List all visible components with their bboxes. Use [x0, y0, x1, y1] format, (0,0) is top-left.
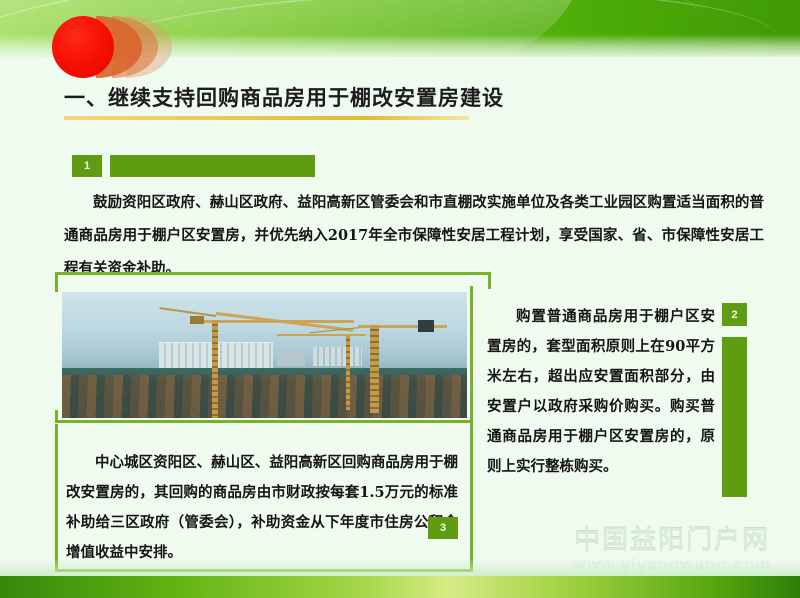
- crane-mast-icon: [370, 325, 379, 413]
- block-badge-1: 1: [72, 155, 102, 177]
- crane-counterweight: [190, 316, 204, 324]
- crane-mast-icon: [212, 320, 218, 418]
- logo: [52, 16, 170, 78]
- paragraph-3: 中心城区资阳区、赫山区、益阳高新区回购商品房用于棚改安置房的，其回购的商品房由市…: [66, 448, 458, 568]
- content-frame-left: [55, 424, 58, 572]
- footer-fade: [0, 558, 800, 576]
- title-underline: [64, 116, 469, 120]
- block-accent-bar-2: [722, 337, 747, 497]
- block-header-bar-1: [110, 155, 315, 177]
- footer-bar: [0, 576, 800, 598]
- photo-buildings: [313, 347, 362, 366]
- crane-counterweight: [418, 320, 434, 332]
- construction-photo: [62, 292, 467, 418]
- content-frame-divider: [470, 286, 473, 572]
- paragraph-1: 鼓励资阳区政府、赫山区政府、益阳高新区管委会和市直棚改实施单位及各类工业园区购置…: [64, 186, 764, 285]
- page-title: 一、继续支持回购商品房用于棚改安置房建设: [64, 82, 764, 112]
- slide: 一、继续支持回购商品房用于棚改安置房建设 1 鼓励资阳区政府、赫山区政府、益阳高…: [0, 0, 800, 598]
- block-badge-2: 2: [722, 303, 747, 326]
- paragraph-2: 购置普通商品房用于棚户区安置房的，套型面积原则上在90平方米左右，超出应安置面积…: [487, 302, 715, 482]
- photo-rubble: [62, 375, 467, 418]
- block-badge-3: 3: [428, 517, 458, 539]
- crane-jib-icon: [277, 334, 366, 336]
- crane-mast-icon: [346, 335, 350, 411]
- content-frame-left-stub: [55, 272, 58, 292]
- photo-buildings: [277, 351, 305, 366]
- crane-jib-icon: [196, 320, 354, 323]
- content-frame-mid: [55, 420, 470, 423]
- content-frame-mid-stub: [55, 410, 58, 423]
- slide-title-area: 一、继续支持回购商品房用于棚改安置房建设: [64, 82, 764, 120]
- logo-red-circle-icon: [52, 16, 114, 78]
- watermark-text: 中国益阳门户网: [552, 520, 792, 557]
